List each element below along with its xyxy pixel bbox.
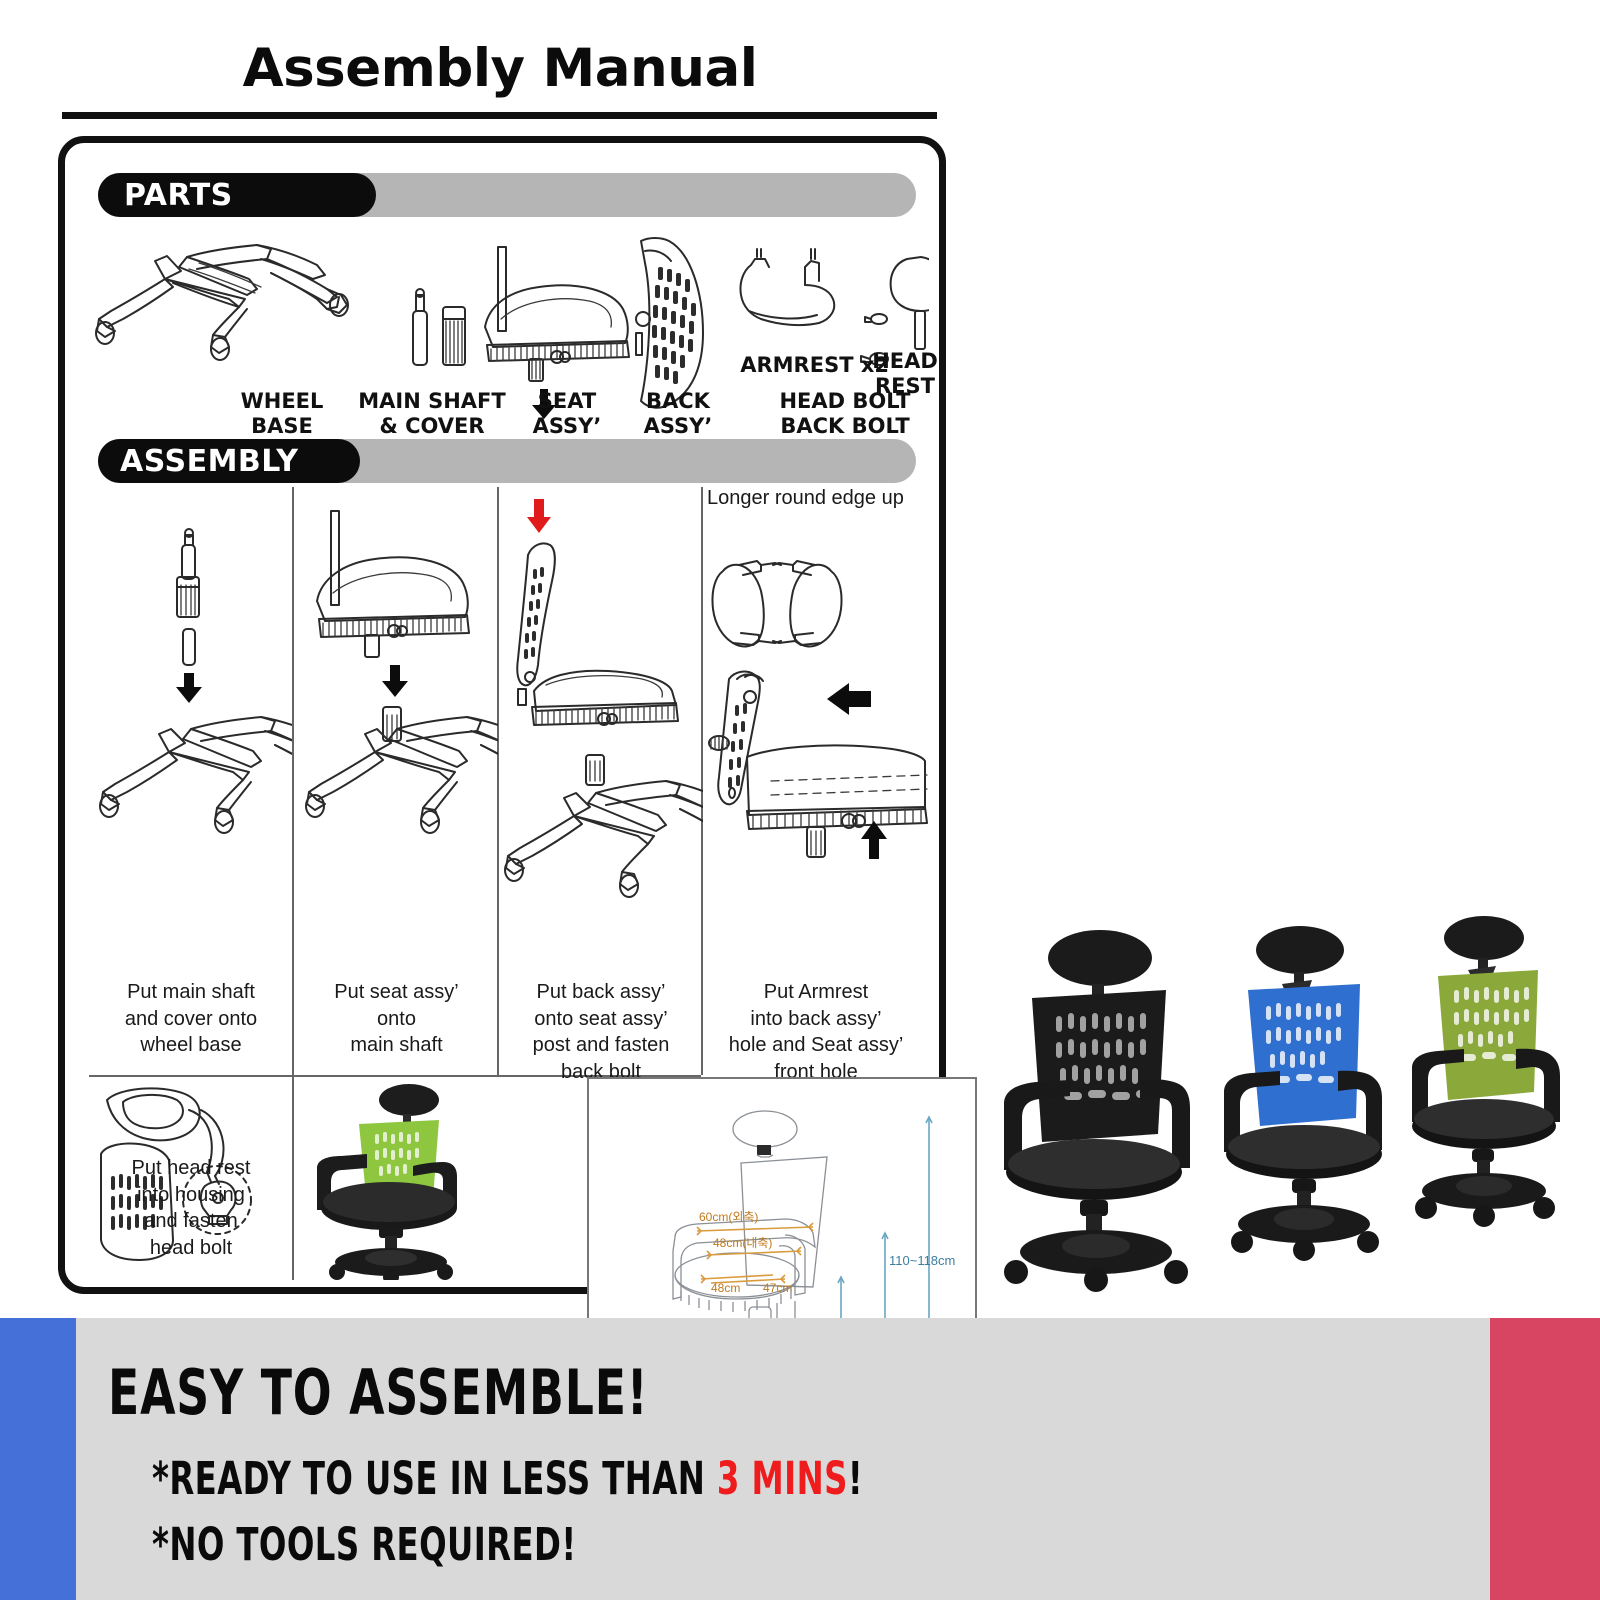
part-label-head-rest: HEADREST: [861, 349, 949, 399]
part-label-seat-assy: SEATASSY’: [517, 389, 617, 439]
banner-line-3: *NO TOOLS REQUIRED!: [152, 1518, 576, 1571]
back-assy-illustration: [636, 238, 703, 408]
step-2-caption: Put seat assy’ontomain shaft: [299, 979, 494, 1059]
banner-line-2: *READY TO USE IN LESS THAN 3 MINS!: [152, 1452, 863, 1505]
armrest-orientation-note: Longer round edge up: [707, 487, 937, 510]
step-1-illustration: [89, 489, 292, 999]
chair-photo-green: [297, 1080, 497, 1280]
assembly-area: Put main shaftand cover ontowheel base: [89, 485, 929, 1280]
banner-line2-prefix: *READY TO USE IN LESS THAN: [152, 1452, 717, 1505]
part-label-main-shaft: MAIN SHAFT& COVER: [337, 389, 527, 439]
step-4-illustration: [703, 521, 931, 991]
parts-section-bar: PARTS: [98, 173, 916, 217]
banner-headline: EASY TO ASSEMBLE!: [108, 1356, 648, 1429]
step-2-illustration: [295, 489, 498, 999]
banner-line2-suffix: !: [848, 1452, 863, 1505]
title-divider: [62, 112, 937, 119]
dim-back-outer: 60cm(외축): [699, 1210, 758, 1224]
assembly-section-label: ASSEMBLY: [98, 439, 360, 483]
dim-total-height: 110~118cm: [889, 1253, 955, 1268]
step-3-illustration: [500, 489, 703, 999]
dim-back-inner: 48cm(내축): [713, 1236, 772, 1250]
step-1-caption: Put main shaftand cover ontowheel base: [95, 979, 287, 1059]
assembly-divider-1: [292, 487, 294, 1075]
parts-area: WHEELBASE MAIN SHAFT& COVER SEATASSY’ BA…: [89, 223, 929, 435]
wheel-base-illustration: [96, 245, 348, 360]
armrest-illustration: [740, 249, 834, 325]
assembly-divider-4: [292, 1075, 294, 1280]
dim-seat-width: 47cm: [763, 1281, 792, 1295]
head-rest-illustration: [891, 257, 929, 349]
chair-black-photo: [1004, 930, 1190, 1292]
main-shaft-illustration: [413, 289, 465, 365]
banner-accent-right: [1490, 1318, 1600, 1600]
banner-line2-highlight: 3 MINS: [717, 1452, 848, 1505]
step-4-caption: Put Armrestinto back assy’hole and Seat …: [703, 979, 929, 1085]
page-title: Assembly Manual: [0, 38, 1000, 99]
part-label-wheel-base: WHEELBASE: [207, 389, 357, 439]
part-label-armrest: ARMREST x2: [679, 353, 889, 378]
chair-green-photo: [1412, 916, 1560, 1227]
product-photos: [960, 880, 1590, 1300]
bottom-banner: EASY TO ASSEMBLE! *READY TO USE IN LESS …: [0, 1318, 1600, 1600]
assembly-section-bar: ASSEMBLY: [98, 439, 916, 483]
manual-card: PARTS: [58, 136, 946, 1294]
part-label-back-assy: BACKASSY’: [623, 389, 733, 439]
chair-blue-photo: [1224, 926, 1382, 1261]
step-3-caption: Put back assy’onto seat assy’post and fa…: [503, 979, 699, 1085]
banner-accent-left: [0, 1318, 76, 1600]
seat-assy-illustration: [485, 247, 629, 381]
dim-seat-depth: 48cm: [711, 1281, 740, 1295]
parts-section-label: PARTS: [98, 173, 376, 217]
step-5-caption: Put head restinto housingand fastenhead …: [95, 1155, 287, 1261]
